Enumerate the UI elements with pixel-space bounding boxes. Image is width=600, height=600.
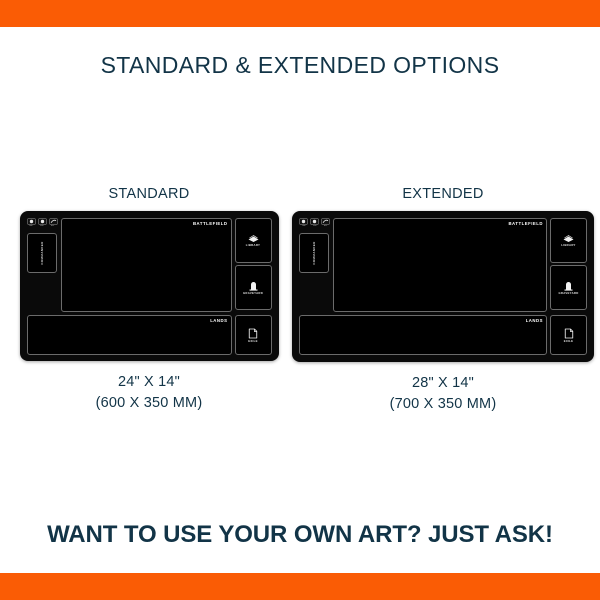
bottom-accent-bar — [0, 573, 600, 600]
poison-counter-label: PSN — [40, 226, 43, 227]
zone-lands: LANDS — [299, 315, 547, 355]
zone-graveyard-label: GRAVEYARD — [558, 292, 578, 295]
zone-exile: EXILE — [235, 315, 272, 355]
exiled-card-icon — [564, 328, 574, 339]
dimensions-standard-imperial: 24" X 14" — [118, 374, 180, 390]
zone-library: LIBRARY — [550, 218, 587, 263]
card-stack-icon — [247, 234, 260, 243]
zone-lands: LANDS — [27, 315, 232, 355]
page-title: STANDARD & EXTENDED OPTIONS — [0, 52, 600, 79]
exiled-card-icon — [248, 328, 258, 339]
zone-commander-label: COMMANDER — [40, 241, 44, 264]
dimensions-extended-metric: (700 X 350 MM) — [290, 394, 596, 415]
zone-commander-label: COMMANDER — [312, 241, 316, 264]
zone-library-label: LIBRARY — [246, 244, 260, 247]
zone-graveyard-label: GRAVEYARD — [243, 292, 263, 295]
dimensions-extended-imperial: 28" X 14" — [412, 375, 474, 391]
life-counter-label: LIFE — [302, 226, 305, 227]
playmat-extended: LIFE PSN EXP COMMANDER BATTLEFIELD LANDS — [292, 211, 594, 362]
experience-counter-icon: EXP — [49, 218, 58, 229]
life-counter-icon: LIFE — [27, 218, 36, 229]
zone-commander: COMMANDER — [299, 233, 329, 273]
life-counter-label: LIFE — [29, 226, 32, 227]
playmat-standard: LIFE PSN EXP COMMANDER BATTLEFIELD — [20, 211, 279, 361]
option-extended: EXTENDED LIFE PSN EXP COMMANDER — [290, 186, 596, 415]
counter-row-standard: LIFE PSN EXP — [27, 218, 58, 229]
life-counter-icon: LIFE — [299, 218, 308, 229]
zone-commander: COMMANDER — [27, 233, 57, 273]
experience-counter-label: EXP — [51, 226, 54, 227]
tombstone-icon — [563, 280, 574, 291]
zone-exile-label: EXILE — [564, 340, 574, 343]
dimensions-standard: 24" X 14" (600 X 350 MM) — [4, 372, 294, 414]
poison-counter-icon: PSN — [38, 218, 47, 229]
counter-row-extended: LIFE PSN EXP — [299, 218, 330, 229]
zone-exile-label: EXILE — [248, 340, 258, 343]
tombstone-icon — [248, 280, 259, 291]
zone-library: LIBRARY — [235, 218, 272, 263]
zone-battlefield-label: BATTLEFIELD — [508, 221, 543, 226]
top-accent-bar — [0, 0, 600, 27]
zone-library-label: LIBRARY — [561, 244, 575, 247]
poison-counter-icon: PSN — [310, 218, 319, 229]
zone-graveyard: GRAVEYARD — [235, 265, 272, 310]
experience-counter-label: EXP — [324, 226, 327, 227]
option-standard-label: STANDARD — [4, 186, 294, 202]
zone-battlefield: BATTLEFIELD — [61, 218, 232, 312]
zone-battlefield: BATTLEFIELD — [333, 218, 547, 312]
cta-text: WANT TO USE YOUR OWN ART? JUST ASK! — [0, 521, 600, 549]
dimensions-standard-metric: (600 X 350 MM) — [4, 393, 294, 414]
zone-exile: EXILE — [550, 315, 587, 355]
poison-counter-label: PSN — [313, 226, 316, 227]
zone-battlefield-label: BATTLEFIELD — [193, 221, 228, 226]
zone-graveyard: GRAVEYARD — [550, 265, 587, 310]
experience-counter-icon: EXP — [321, 218, 330, 229]
card-stack-icon — [562, 234, 575, 243]
zone-lands-label: LANDS — [210, 318, 227, 323]
option-extended-label: EXTENDED — [290, 186, 596, 202]
dimensions-extended: 28" X 14" (700 X 350 MM) — [290, 373, 596, 415]
option-standard: STANDARD LIFE PSN EXP COMMAND — [4, 186, 294, 414]
zone-lands-label: LANDS — [526, 318, 543, 323]
